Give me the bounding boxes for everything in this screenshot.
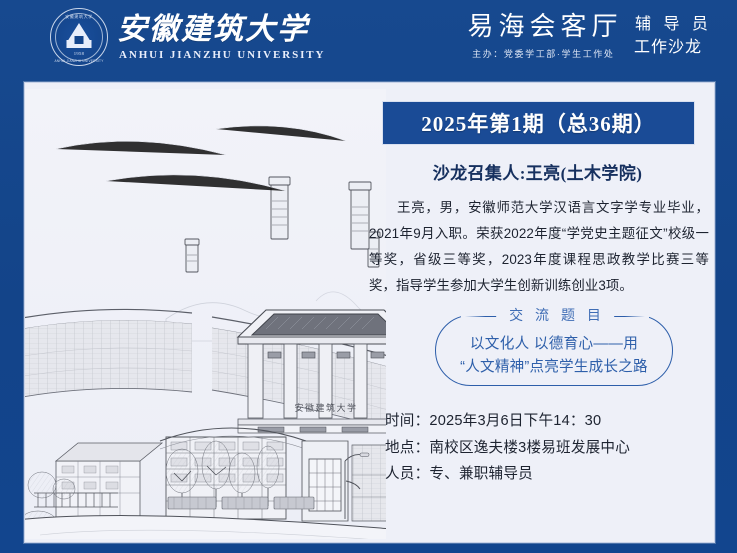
emblem-year-text: 1958 — [51, 51, 107, 56]
topic-text: 以文化人 以德育心——用 “人文精神”点亮学生成长之路 — [435, 333, 673, 378]
event-details: 时间：2025年3月6日下午14：30 地点：南校区逸夫楼3楼易班发展中心 人员… — [385, 408, 630, 488]
event-detail-location: 地点：南校区逸夫楼3楼易班发展中心 — [385, 435, 630, 462]
topic-label: 交 流 题 目 — [496, 305, 614, 325]
university-name-block: 安徽建筑大学 ANHUI JIANZHU UNIVERSITY — [117, 13, 325, 61]
salon-title-block: 辅 导 员 工作沙龙 — [634, 14, 712, 59]
salon-title-line1: 辅 导 员 — [634, 14, 712, 37]
topic-text-line2: “人文精神”点亮学生成长之路 — [435, 356, 673, 379]
issue-banner-text: 2025年第1期（总36期） — [421, 108, 656, 138]
brand-subtitle: 主办：党委学工部·学生工作处 — [455, 47, 630, 60]
salon-title-line2: 工作沙龙 — [634, 37, 712, 60]
poster-header: 安徽建筑大学 1958 ANHUI JIANZHU UNIVERSITY 安徽建… — [0, 0, 737, 76]
emblem-door-shape — [75, 36, 84, 44]
convener-line: 沙龙召集人:王亮(土木学院) — [361, 159, 714, 184]
topic-section: 交 流 题 目 以文化人 以德育心——用 “人文精神”点亮学生成长之路 — [435, 305, 675, 389]
speaker-bio-paragraph: 王亮，男，安徽师范大学汉语言文字学专业毕业，2021年9月入职。荣获2022年度… — [369, 195, 709, 300]
topic-dash-right — [611, 316, 645, 317]
university-name-en: ANHUI JIANZHU UNIVERSITY — [119, 49, 325, 61]
topic-dash-left — [465, 316, 499, 317]
campus-gate-sketch-image: 安徽建筑大学 — [24, 89, 386, 539]
emblem-ring-bottom-text: ANHUI JIANZHU UNIVERSITY — [51, 59, 107, 63]
brand-title: 易海会客厅 — [455, 10, 630, 43]
poster-root: 安徽建筑大学 1958 ANHUI JIANZHU UNIVERSITY 安徽建… — [0, 0, 737, 553]
sketch-gate-caption: 安徽建筑大学 — [294, 402, 357, 413]
university-logo-block: 安徽建筑大学 1958 ANHUI JIANZHU UNIVERSITY 安徽建… — [50, 8, 325, 66]
topic-text-line1: 以文化人 以德育心——用 — [435, 333, 673, 356]
content-column: 2025年第1期（总36期） 沙龙召集人:王亮(土木学院) 王亮，男，安徽师范大… — [361, 83, 714, 542]
content-panel: 安徽建筑大学 — [24, 82, 715, 543]
event-detail-attendees: 人员：专、兼职辅导员 — [385, 461, 630, 488]
university-emblem-icon: 安徽建筑大学 1958 ANHUI JIANZHU UNIVERSITY — [50, 8, 108, 66]
brand-block: 易海会客厅 主办：党委学工部·学生工作处 — [455, 10, 630, 60]
event-detail-time: 时间：2025年3月6日下午14：30 — [385, 408, 630, 435]
emblem-ring-top-text: 安徽建筑大学 — [51, 14, 107, 20]
university-name-cn: 安徽建筑大学 — [117, 13, 325, 48]
issue-banner: 2025年第1期（总36期） — [382, 101, 695, 145]
